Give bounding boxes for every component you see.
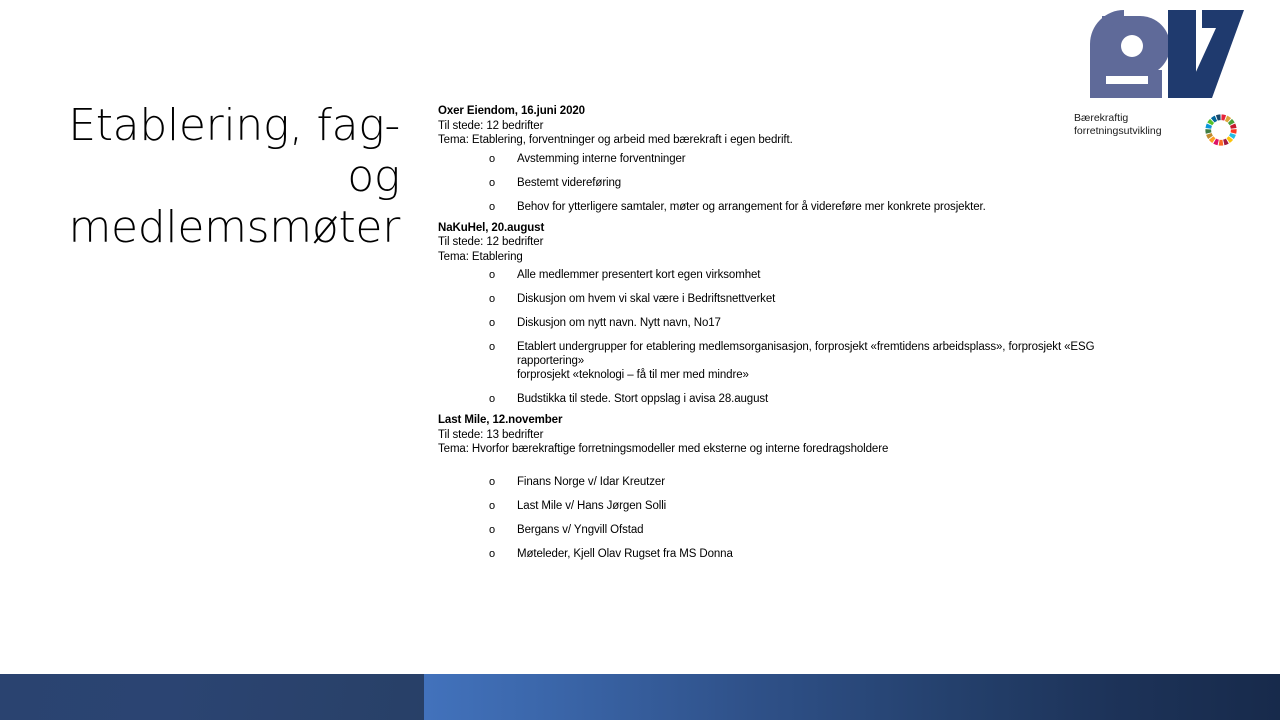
list-item-text: Behov for ytterligere samtaler, møter og…: [517, 200, 1138, 214]
meeting-topic: Tema: Etablering: [438, 250, 1138, 265]
meeting-topic: Tema: Etablering, forventninger og arbei…: [438, 133, 1138, 148]
list-item: oEtablert undergrupper for etablering me…: [438, 340, 1138, 382]
list-item: oBudstikka til stede. Stort oppslag i av…: [438, 392, 1138, 406]
meeting-heading: NaKuHel, 20.august: [438, 221, 1138, 236]
meeting-heading: Oxer Eiendom, 16.juni 2020: [438, 104, 1138, 119]
meeting-block: Oxer Eiendom, 16.juni 2020Til stede: 12 …: [438, 104, 1138, 214]
bullet-marker-icon: o: [489, 292, 495, 306]
list-item: oDiskusjon om hvem vi skal være i Bedrif…: [438, 292, 1138, 306]
meeting-attendance: Til stede: 12 bedrifter: [438, 235, 1138, 250]
list-item-text: Diskusjon om hvem vi skal være i Bedrift…: [517, 292, 1138, 306]
list-item-text: Budstikka til stede. Stort oppslag i avi…: [517, 392, 1138, 406]
list-item: oLast Mile v/ Hans Jørgen Solli: [438, 499, 1138, 513]
bullet-marker-icon: o: [489, 268, 495, 282]
list-item-text: Etablert undergrupper for etablering med…: [517, 340, 1138, 382]
no17-logo-icon: [1088, 8, 1248, 108]
bullet-marker-icon: o: [489, 152, 495, 166]
meeting-block: Last Mile, 12.novemberTil stede: 13 bedr…: [438, 413, 1138, 561]
bullet-marker-icon: o: [489, 200, 495, 214]
footer-bar-left-segment: [0, 674, 424, 720]
meeting-topic: Tema: Hvorfor bærekraftige forretningsmo…: [438, 442, 1138, 457]
list-item: oMøteleder, Kjell Olav Rugset fra MS Don…: [438, 547, 1138, 561]
footer-bar: [0, 674, 1280, 720]
list-item: oAlle medlemmer presentert kort egen vir…: [438, 268, 1138, 282]
bullet-marker-icon: o: [489, 547, 495, 561]
bullet-marker-icon: o: [489, 392, 495, 406]
footer-bar-right-segment: [424, 674, 1280, 720]
meeting-block: NaKuHel, 20.augustTil stede: 12 bedrifte…: [438, 221, 1138, 407]
list-item: oAvstemming interne forventninger: [438, 152, 1138, 166]
bullet-marker-icon: o: [489, 499, 495, 513]
meeting-heading: Last Mile, 12.november: [438, 413, 1138, 428]
logo-footer: Bærekraftig forretningsutvikling: [1070, 112, 1250, 147]
bullet-marker-icon: o: [489, 340, 495, 354]
bullet-marker-icon: o: [489, 523, 495, 537]
list-item: oBestemt videreføring: [438, 176, 1138, 190]
list-item: oBergans v/ Yngvill Ofstad: [438, 523, 1138, 537]
list-item-text: Alle medlemmer presentert kort egen virk…: [517, 268, 1138, 282]
meeting-attendance: Til stede: 13 bedrifter: [438, 428, 1138, 443]
bullet-marker-icon: o: [489, 475, 495, 489]
sdg-wheel-icon: [1204, 113, 1238, 147]
meeting-bullet-list: oAvstemming interne forventningeroBestem…: [438, 152, 1138, 214]
meeting-list: Oxer Eiendom, 16.juni 2020Til stede: 12 …: [438, 104, 1138, 568]
list-item-text: Bestemt videreføring: [517, 176, 1138, 190]
list-item-text: Diskusjon om nytt navn. Nytt navn, No17: [517, 316, 1138, 330]
list-item-text: Last Mile v/ Hans Jørgen Solli: [517, 499, 1138, 513]
bullet-marker-icon: o: [489, 176, 495, 190]
list-item: oDiskusjon om nytt navn. Nytt navn, No17: [438, 316, 1138, 330]
list-item-text: Finans Norge v/ Idar Kreutzer: [517, 475, 1138, 489]
list-item: oBehov for ytterligere samtaler, møter o…: [438, 200, 1138, 214]
blank-line: [438, 457, 1138, 472]
list-item-text: Avstemming interne forventninger: [517, 152, 1138, 166]
meeting-bullet-list: oFinans Norge v/ Idar KreutzeroLast Mile…: [438, 475, 1138, 561]
bullet-marker-icon: o: [489, 316, 495, 330]
brand-logo: Bærekraftig forretningsutvikling: [1070, 8, 1250, 147]
meeting-bullet-list: oAlle medlemmer presentert kort egen vir…: [438, 268, 1138, 406]
meeting-attendance: Til stede: 12 bedrifter: [438, 119, 1138, 134]
logo-tagline: Bærekraftig forretningsutvikling: [1074, 112, 1162, 138]
list-item-text: Bergans v/ Yngvill Ofstad: [517, 523, 1138, 537]
slide-title: Etablering, fag- og medlemsmøter: [40, 100, 400, 253]
list-item: oFinans Norge v/ Idar Kreutzer: [438, 475, 1138, 489]
list-item-text: Møteleder, Kjell Olav Rugset fra MS Donn…: [517, 547, 1138, 561]
